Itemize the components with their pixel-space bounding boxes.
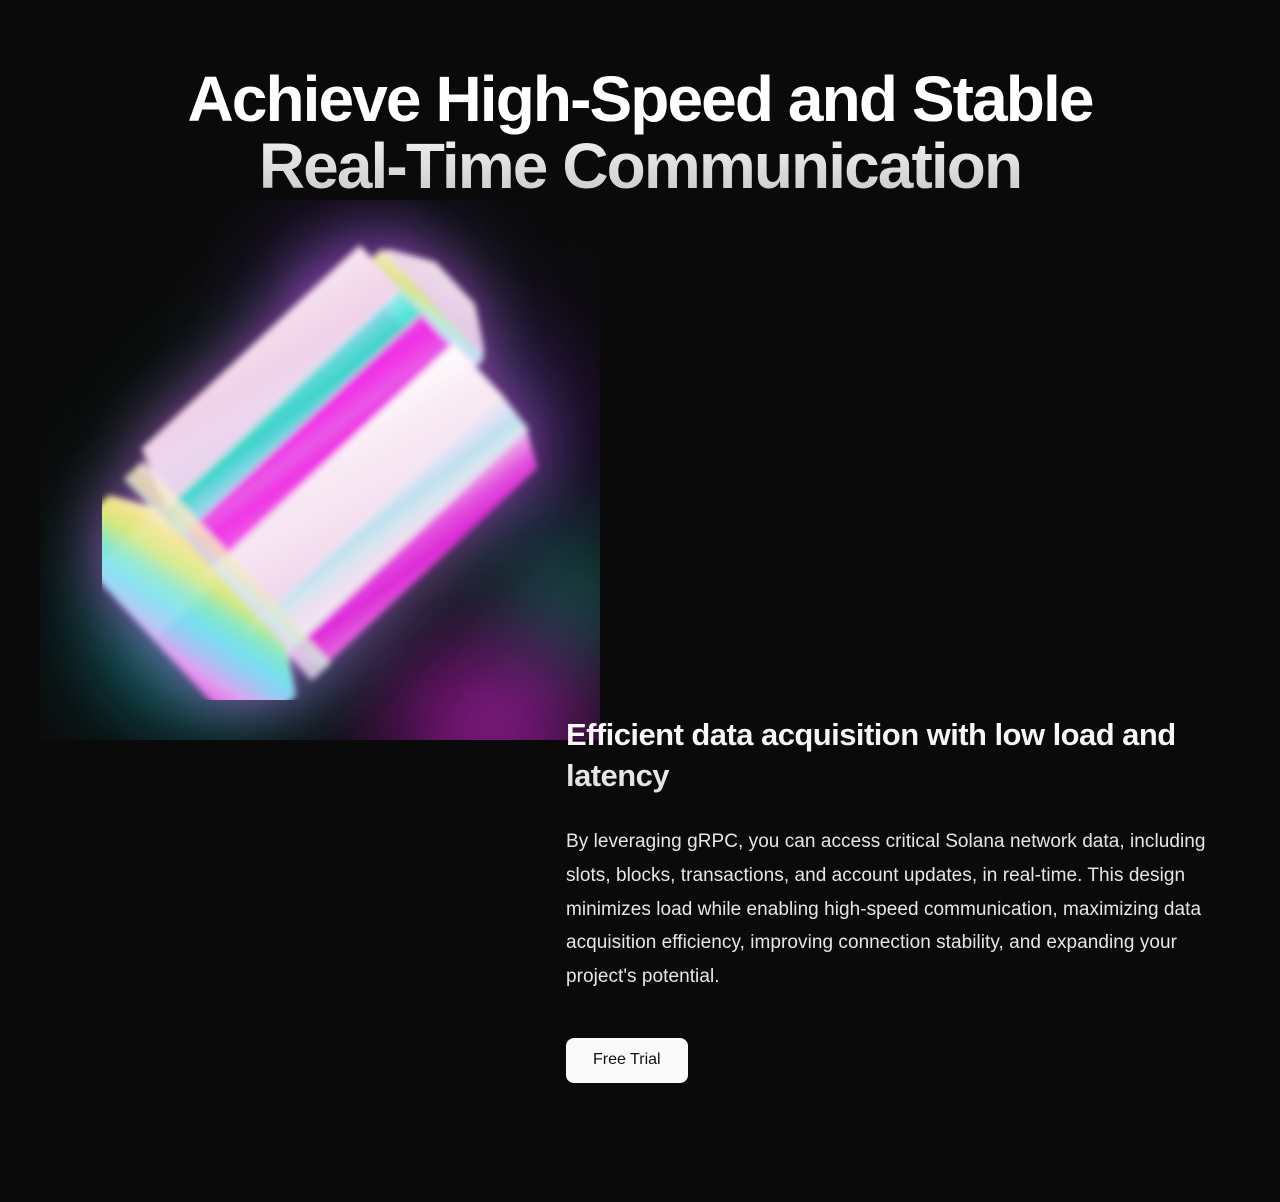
hero-section: Achieve High-Speed and Stable Real-Time … (0, 0, 1280, 1202)
headline-line-2: Real-Time Communication (0, 133, 1280, 200)
feature-body-text: By leveraging gRPC, you can access criti… (566, 825, 1212, 993)
headline-line-1: Achieve High-Speed and Stable (0, 66, 1280, 133)
free-trial-button[interactable]: Free Trial (566, 1038, 688, 1082)
page-title: Achieve High-Speed and Stable Real-Time … (0, 66, 1280, 199)
prism-shape-icon (102, 240, 572, 700)
feature-copy-block: Efficient data acquisition with low load… (566, 714, 1214, 1083)
crystal-body (102, 240, 572, 700)
feature-heading: Efficient data acquisition with low load… (566, 714, 1214, 796)
prism-illustration (40, 200, 600, 740)
